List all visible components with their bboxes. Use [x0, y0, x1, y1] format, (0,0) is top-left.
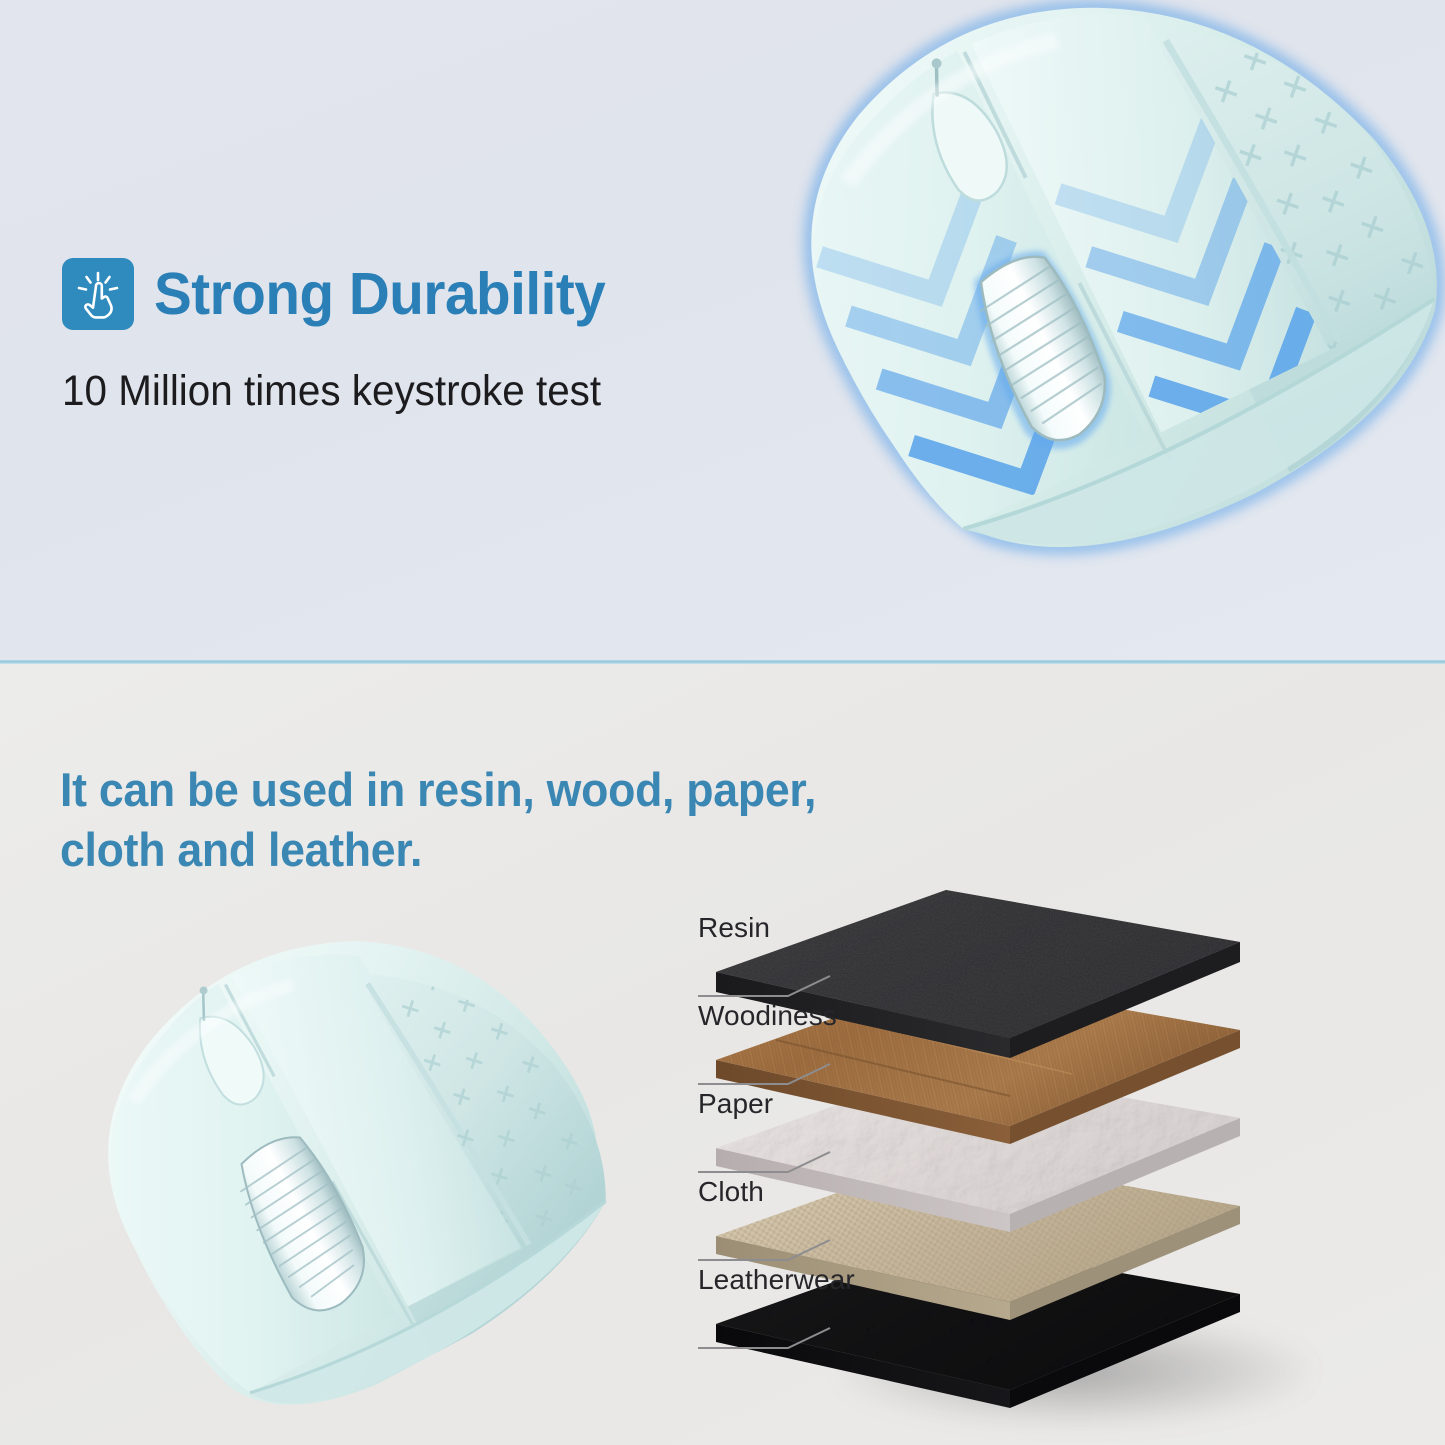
material-label-leatherwear: Leatherwear — [698, 1264, 855, 1296]
layer-slabs — [680, 864, 1445, 1424]
click-hand-icon — [62, 258, 134, 330]
product-infographic-page: Strong Durability 10 Million times keyst… — [0, 0, 1445, 1445]
durability-copy-block: Strong Durability 10 Million times keyst… — [62, 258, 762, 415]
hero-mouse-image — [660, 0, 1445, 661]
durability-subtitle: 10 Million times keystroke test — [62, 368, 720, 415]
section-materials: It can be used in resin, wood, paper, cl… — [0, 664, 1445, 1445]
material-label-resin: Resin — [698, 912, 770, 944]
page-title: Strong Durability — [154, 265, 605, 324]
section-strong-durability: Strong Durability 10 Million times keyst… — [0, 0, 1445, 661]
material-layers-stack: Resin Woodiness Paper Cloth Leatherwear — [680, 864, 1445, 1424]
materials-mouse-image — [20, 914, 680, 1384]
material-label-paper: Paper — [698, 1088, 773, 1120]
durability-heading-row: Strong Durability — [62, 258, 762, 330]
material-label-cloth: Cloth — [698, 1176, 764, 1208]
materials-heading-line2: cloth and leather. — [60, 823, 422, 876]
materials-heading-line1: It can be used in resin, wood, paper, — [60, 763, 816, 816]
material-label-woodiness: Woodiness — [698, 1000, 837, 1032]
